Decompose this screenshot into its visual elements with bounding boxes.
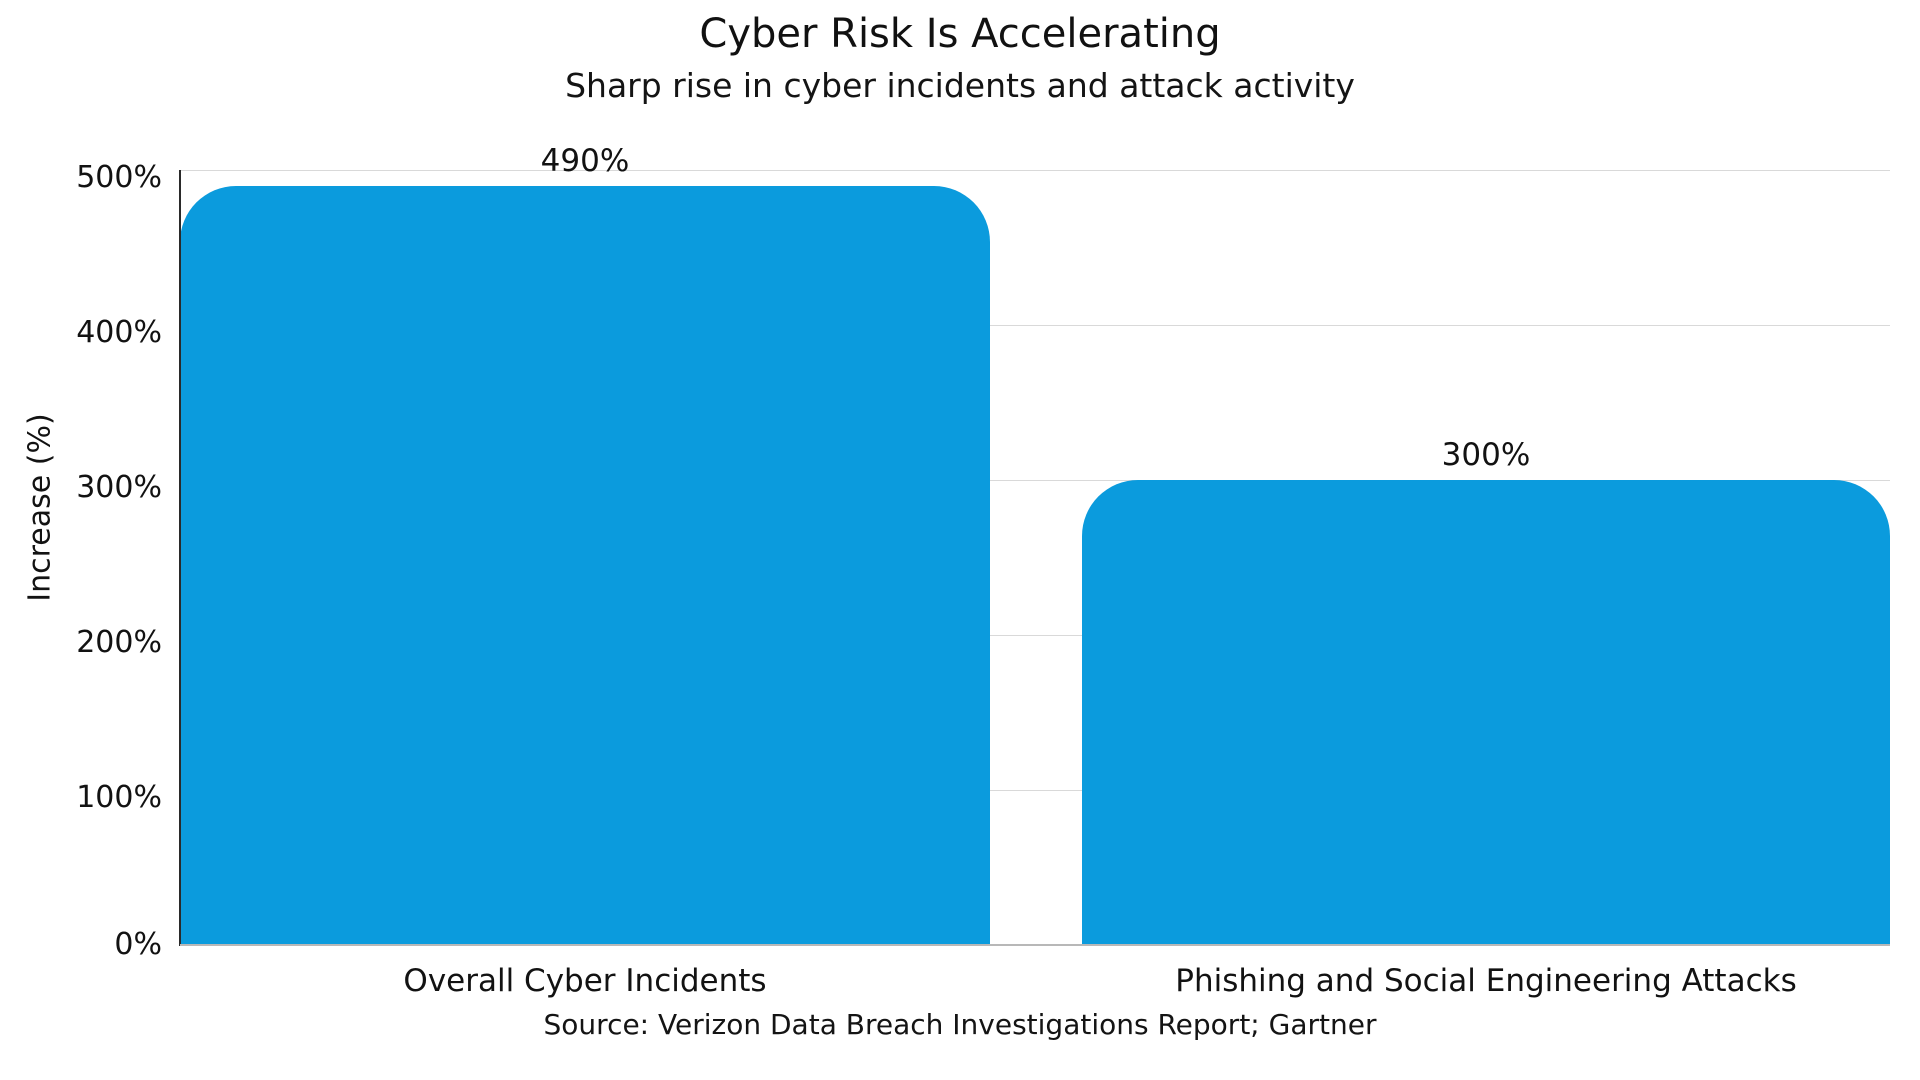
y-tick-label-500: 500% [0, 163, 162, 193]
bar-overall-cyber-incidents[interactable] [180, 186, 990, 946]
chart-title: Cyber Risk Is Accelerating [0, 8, 1920, 60]
x-tick-label-1: Phishing and Social Engineering Attacks [1082, 960, 1890, 1002]
bar-value-label-0: 490% [180, 144, 990, 178]
plot-area [180, 170, 1890, 945]
bar-phishing-and-social-engineering-attacks[interactable] [1082, 480, 1890, 945]
y-axis-spine [179, 170, 181, 946]
x-tick-label-0: Overall Cyber Incidents [180, 960, 990, 1002]
x-axis-baseline [180, 944, 1890, 946]
y-tick-label-0: 0% [0, 930, 162, 960]
y-axis-title: Increase (%) [23, 208, 58, 808]
bar-value-label-1: 300% [1082, 438, 1890, 472]
source-note: Source: Verizon Data Breach Investigatio… [0, 1006, 1920, 1044]
chart-figure: Cyber Risk Is Accelerating Sharp rise in… [0, 0, 1920, 1080]
chart-subtitle: Sharp rise in cyber incidents and attack… [0, 64, 1920, 108]
